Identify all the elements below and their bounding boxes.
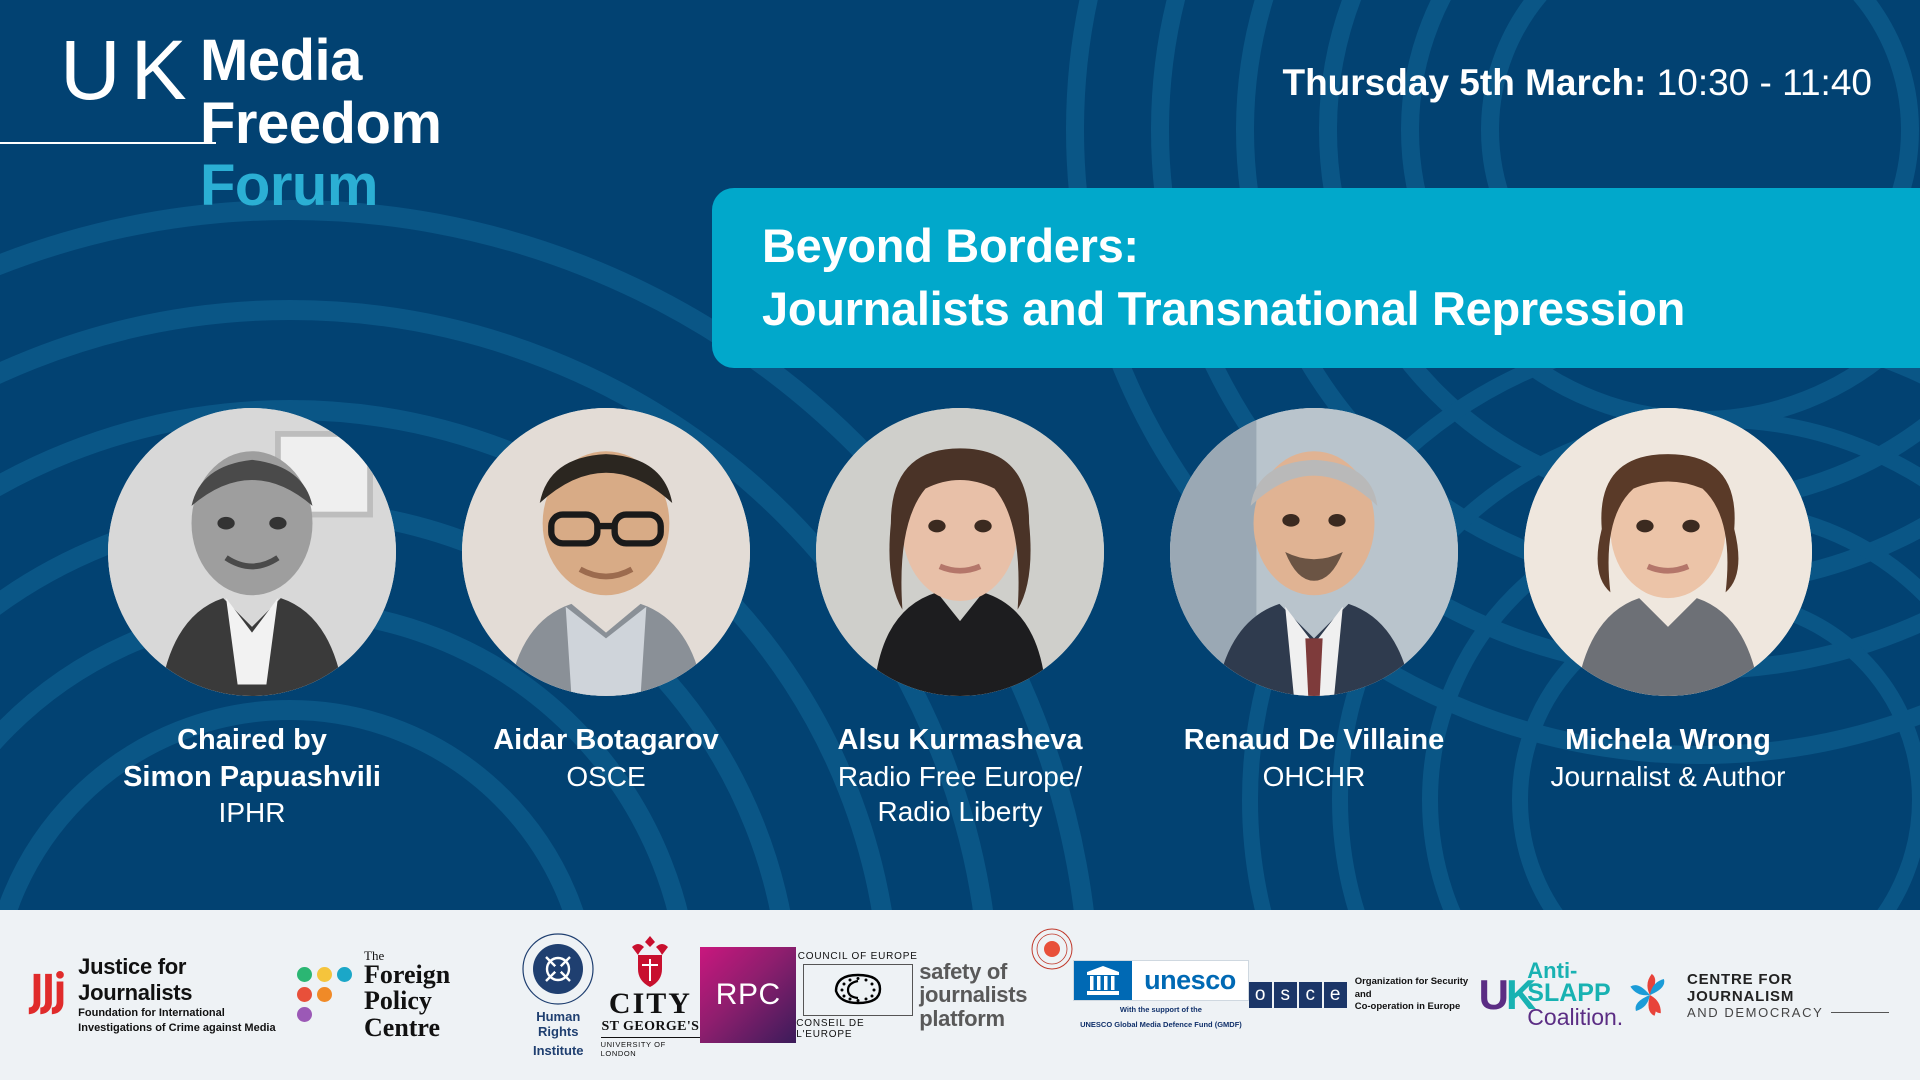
unesco-temple-icon [1074,961,1132,1000]
logo-safety-of-journalists-platform: safety of journalists platform [919,960,1073,1030]
cjd-pinwheel-icon [1623,967,1677,1023]
slapp-letter-u: U [1479,971,1506,1019]
soj-seal-icon [1031,928,1073,970]
session-title-banner: Beyond Borders: Journalists and Transnat… [712,188,1920,368]
rpc-box: RPC [700,947,796,1043]
session-title-line2: Journalists and Transnational Repression [762,278,1896,341]
speaker-name-line2: Simon Papuashvili [123,759,381,796]
logo-line-freedom: Freedom [200,93,441,156]
portrait-photo-michela-wrong [1524,408,1812,696]
avatar [1524,408,1812,696]
logo-justice-for-journalists: Justice for Journalists Foundation for I… [24,954,297,1036]
justice-for-journalists-text: Justice for Journalists Foundation for I… [78,954,297,1036]
city-line1: CITY [609,989,692,1019]
city-line3: UNIVERSITY OF LONDON [601,1037,701,1058]
fpc-line1: Foreign Policy [364,962,516,1015]
logo-unesco: unesco With the support of the UNESCO Gl… [1073,960,1249,1029]
logo-uk-anti-slapp-coalition: UK Anti- SLAPP Coalition. [1479,961,1624,1029]
unesco-lockup: unesco [1073,960,1249,1001]
speaker-name-line1: Renaud De Villaine [1184,722,1445,759]
cjd-line1: CENTRE FOR JOURNALISM [1687,971,1896,1005]
fpc-text: The Foreign Policy Centre [364,949,516,1042]
speaker-role-line2: Radio Liberty [838,794,1083,829]
speaker-list: Chaired by Simon Papuashvili IPHR [0,408,1920,908]
speaker-card: Michela Wrong Journalist & Author [1491,408,1845,794]
city-line2: ST GEORGE'S [601,1019,699,1035]
speaker-name-line1: Alsu Kurmasheva [838,722,1083,759]
uk-media-freedom-forum-logo: UK Media Freedom Forum [0,18,700,258]
partner-logo-strip: Justice for Journalists Foundation for I… [0,910,1920,1080]
speaker-card: Aidar Botagarov OSCE [429,408,783,794]
iba-line1: Human Rights [516,1009,601,1040]
cjd-line2: AND DEMOCRACY [1687,1005,1823,1020]
speaker-role-line1: Radio Free Europe/ [838,759,1083,794]
speaker-info: Michela Wrong Journalist & Author [1544,722,1791,794]
unesco-wordbox: unesco [1132,961,1248,1000]
osce-letter-blocks: o s c e [1249,982,1347,1008]
session-title-line1: Beyond Borders: [762,215,1896,278]
speaker-role-line1: IPHR [123,795,381,830]
speaker-info: Chaired by Simon Papuashvili IPHR [117,722,387,830]
slapp-line2: SLAPP [1527,982,1623,1006]
soj-line3: platform [919,1007,1027,1030]
logo-foreign-policy-centre: The Foreign Policy Centre [297,949,516,1042]
logo-international-bar-association: Human Rights Institute [516,932,601,1059]
avatar [108,408,396,696]
osce-letter-s: s [1274,982,1297,1008]
osce-subtitle: Organization for Security and Co-operati… [1355,976,1479,1013]
logo-centre-for-journalism-and-democracy: CENTRE FOR JOURNALISM AND DEMOCRACY [1623,967,1896,1023]
portrait-photo-simon-papuashvili [108,408,396,696]
osce-letter-e: e [1324,982,1347,1008]
slapp-text: Anti- SLAPP Coalition. [1527,961,1623,1029]
speaker-card: Alsu Kurmasheva Radio Free Europe/ Radio… [783,408,1137,829]
jfj-tagline-line1: Foundation for International [78,1006,297,1021]
city-crest-icon [618,933,682,989]
speaker-role-line1: OSCE [493,759,719,794]
logo-rpc: RPC [700,947,796,1043]
speaker-name-line1: Chaired by [123,722,381,759]
jfj-tagline-line2: Investigations of Crime against Media [78,1021,297,1036]
event-datetime: Thursday 5th March: 10:30 - 11:40 [1282,62,1872,104]
iba-emblem-icon [521,932,595,1006]
slapp-line3: Coalition. [1527,1006,1623,1029]
avatar [816,408,1104,696]
coe-top-text: COUNCIL OF EUROPE [798,951,918,962]
logo-uk-text: UK [60,28,197,112]
avatar [1170,408,1458,696]
osce-letter-o: o [1249,982,1272,1008]
iba-line2: Institute [533,1043,584,1059]
coe-bottom-text: CONSEIL DE L'EUROPE [796,1018,919,1040]
unesco-support-line1: With the support of the [1120,1005,1202,1015]
speaker-info: Aidar Botagarov OSCE [487,722,725,794]
speaker-info: Renaud De Villaine OHCHR [1178,722,1451,794]
event-time: 10:30 - 11:40 [1657,62,1872,103]
event-poster: UK Media Freedom Forum Thursday 5th Marc… [0,0,1920,1080]
logo-horizontal-rule [0,142,216,144]
portrait-photo-aidar-botagarov [462,408,750,696]
osce-sub-line1: Organization for Security and [1355,976,1479,1001]
speaker-role-line1: OHCHR [1184,759,1445,794]
soj-text: safety of journalists platform [919,960,1027,1030]
speaker-name-line1: Michela Wrong [1550,722,1785,759]
fpc-line2: Centre [364,1015,516,1042]
soj-line2: journalists [919,983,1027,1006]
coe-emblem-box [803,964,913,1016]
osce-letter-c: c [1299,982,1322,1008]
jfj-name: Justice for Journalists [78,954,297,1006]
cjd-text: CENTRE FOR JOURNALISM AND DEMOCRACY [1687,971,1896,1020]
speaker-card: Chaired by Simon Papuashvili IPHR [75,408,429,830]
event-date: Thursday 5th March: [1282,62,1646,103]
coe-stars-icon [828,969,888,1011]
logo-council-of-europe: COUNCIL OF EUROPE CONSEIL DE L'EUROPE [796,951,919,1040]
unesco-support-line2: UNESCO Global Media Defence Fund (GMDF) [1080,1020,1242,1030]
rpc-name: RPC [716,978,781,1012]
logo-osce: o s c e Organization for Security and Co… [1249,976,1479,1013]
speaker-name-line1: Aidar Botagarov [493,722,719,759]
logo-wordmark: Media Freedom Forum [200,30,441,218]
soj-line1: safety of [919,960,1027,983]
logo-city-st-georges: CITY ST GEORGE'S UNIVERSITY OF LONDON [601,933,701,1058]
speaker-info: Alsu Kurmasheva Radio Free Europe/ Radio… [832,722,1089,829]
fpc-dots-icon [297,967,352,1022]
unesco-name: unesco [1144,965,1236,996]
speaker-card: Renaud De Villaine OHCHR [1137,408,1491,794]
portrait-photo-alsu-kurmasheva [816,408,1104,696]
avatar [462,408,750,696]
justice-for-journalists-icon [24,967,68,1023]
speaker-role-line1: Journalist & Author [1550,759,1785,794]
logo-line-media: Media [200,30,441,93]
osce-sub-line2: Co-operation in Europe [1355,1001,1479,1013]
portrait-photo-renaud-de-villaine [1170,408,1458,696]
cjd-rule [1831,1012,1889,1013]
logo-line-forum: Forum [200,155,441,218]
